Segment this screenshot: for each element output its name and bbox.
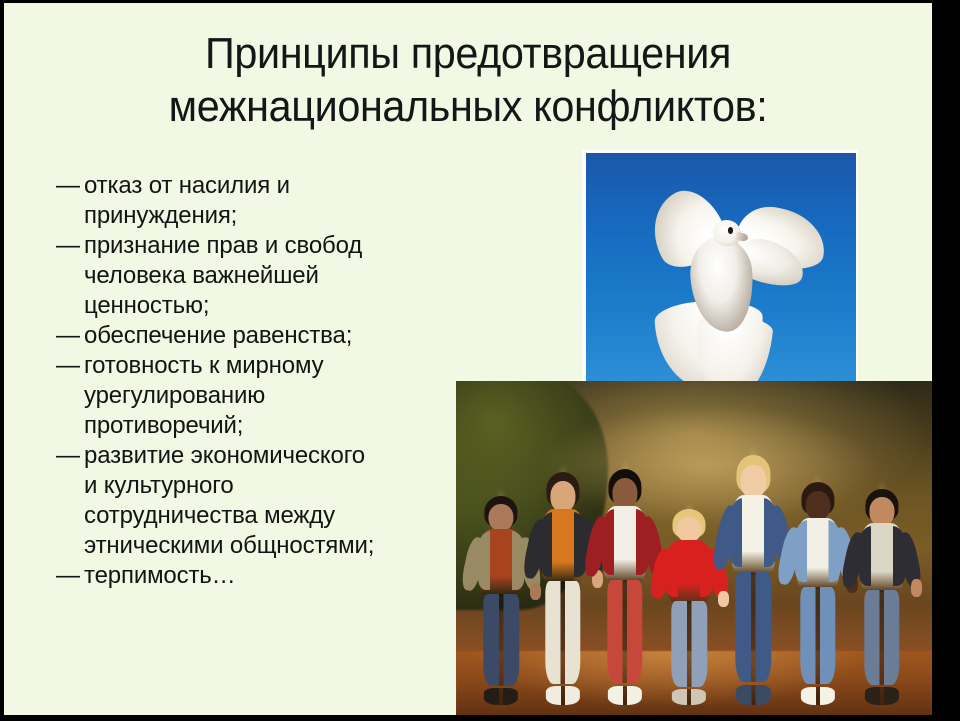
child-head (741, 465, 766, 497)
child-legs (736, 572, 771, 682)
child-legs (864, 590, 899, 685)
child-outer-garment (795, 520, 841, 582)
child-outer-garment (731, 498, 777, 568)
child-outer-garment (666, 542, 712, 597)
dove-eye (728, 227, 733, 233)
child-shoes (672, 689, 706, 705)
list-item: — готовность к мирному урегулированию пр… (56, 351, 476, 441)
list-item-text: готовность к мирному урегулированию прот… (84, 351, 476, 441)
child-held-hand (911, 579, 922, 596)
child-figure (535, 472, 592, 705)
em-dash-marker-icon: — (56, 561, 84, 591)
child-outer-garment (540, 512, 586, 577)
list-item-text: признание прав и свобод человека важнейш… (84, 231, 476, 321)
em-dash-marker-icon: — (56, 351, 84, 381)
list-item-text: отказ от насилия и принуждения; (84, 171, 476, 231)
em-dash-marker-icon: — (56, 171, 84, 201)
em-dash-marker-icon: — (56, 231, 84, 261)
child-figure (725, 455, 782, 704)
child-figure (789, 482, 846, 704)
bottom-black-band (0, 715, 960, 721)
list-item: — признание прав и свобод человека важне… (56, 231, 476, 321)
list-item: — обеспечение равенства; (56, 321, 476, 351)
principles-list: — отказ от насилия и принуждения; — приз… (56, 171, 476, 591)
child-legs (607, 580, 642, 684)
child-shoes (608, 686, 642, 705)
em-dash-marker-icon: — (56, 441, 84, 471)
child-figure (853, 489, 910, 705)
child-head (551, 481, 576, 511)
title-line-1: Принципы предотвращения (32, 27, 904, 80)
child-legs (672, 601, 707, 687)
child-head (869, 497, 894, 525)
child-legs (800, 587, 835, 685)
child-legs (545, 581, 580, 683)
page-title: Принципы предотвращения межнациональных … (4, 27, 932, 133)
list-item-text: терпимость… (84, 561, 476, 591)
child-outer-garment (859, 526, 905, 586)
children-photo (456, 381, 932, 715)
child-head (677, 517, 702, 542)
list-item: — отказ от насилия и принуждения; (56, 171, 476, 231)
child-figure (596, 469, 653, 705)
child-legs (484, 594, 519, 686)
child-head (612, 478, 637, 509)
em-dash-marker-icon: — (56, 321, 84, 351)
child-figure (661, 509, 718, 704)
child-shoes (736, 685, 770, 705)
slide-root: Принципы предотвращения межнациональных … (0, 0, 960, 721)
child-outer-garment (602, 509, 648, 575)
list-item-text: обеспечение равенства; (84, 321, 476, 351)
child-head (805, 491, 830, 520)
list-item: — терпимость… (56, 561, 476, 591)
list-item: — развитие экономического и культурного … (56, 441, 476, 561)
child-head (489, 504, 514, 531)
child-shoes (484, 688, 518, 705)
child-figure (473, 496, 530, 705)
slide-canvas: Принципы предотвращения межнациональных … (4, 3, 932, 715)
child-shoes (546, 686, 580, 705)
child-outer-garment (478, 531, 524, 590)
child-shoes (865, 687, 899, 704)
title-line-2: межнациональных конфликтов: (32, 80, 904, 133)
child-shoes (801, 687, 835, 705)
list-item-text: развитие экономического и культурного со… (84, 441, 476, 561)
